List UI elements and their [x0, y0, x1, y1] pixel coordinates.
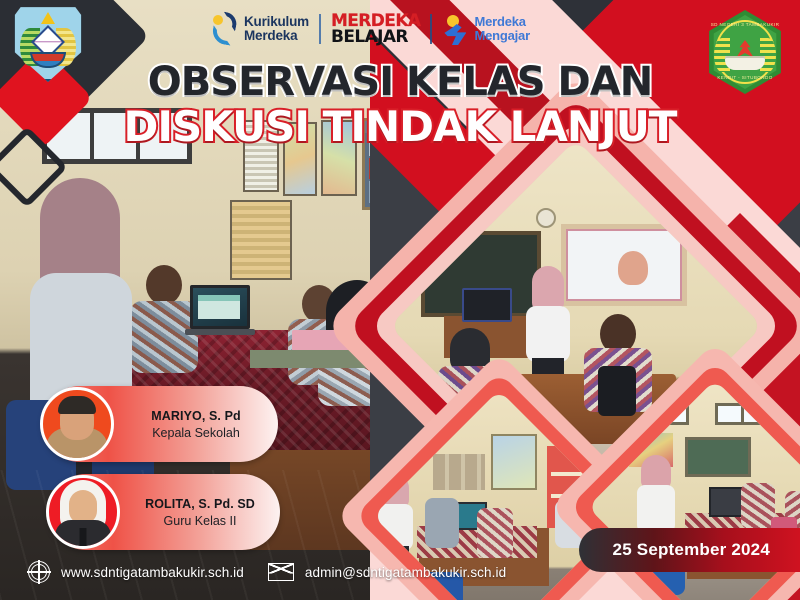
logo-line1: Merdeka [474, 15, 529, 29]
title-line-1: OBSERVASI KELAS DAN [0, 62, 800, 102]
laptop [462, 288, 512, 322]
footer-website[interactable]: www.sdntigatambakukir.sch.id [28, 561, 244, 583]
title-line-2: DISKUSI TINDAK LANJUT [0, 106, 800, 148]
envelope-icon [268, 563, 294, 581]
email-text: admin@sdntigatambakukir.sch.id [305, 565, 506, 580]
website-text: www.sdntigatambakukir.sch.id [61, 565, 244, 580]
name-badge-kepala-sekolah: MARIYO, S. Pd Kepala Sekolah [42, 386, 278, 462]
badge-name: MARIYO, S. Pd [122, 409, 270, 423]
badge-role: Guru Kelas II [128, 514, 272, 528]
student [425, 498, 459, 548]
backpack [598, 366, 636, 416]
avatar [46, 475, 120, 549]
footer-email[interactable]: admin@sdntigatambakukir.sch.id [268, 563, 506, 581]
date-text: 25 September 2024 [613, 540, 770, 560]
poster-canvas: AIR TRANSPORT [0, 0, 800, 600]
date-badge: 25 September 2024 [579, 528, 800, 572]
laptop [190, 285, 250, 337]
wall-map [491, 434, 537, 490]
wall-clock [536, 208, 556, 228]
logo-line2: BELAJAR [331, 29, 420, 46]
globe-icon [28, 561, 50, 583]
kurikulum-merdeka-icon [212, 13, 238, 45]
blackboard [685, 437, 751, 477]
badge-text: MARIYO, S. Pd Kepala Sekolah [114, 409, 278, 440]
avatar [40, 387, 114, 461]
name-badge-guru-kelas: ROLITA, S. Pd. SD Guru Kelas II [48, 474, 280, 550]
badge-name: ROLITA, S. Pd. SD [128, 497, 272, 511]
school-logo-top-text: SD NEGERI 3 TAMBAKUKIR [706, 22, 784, 27]
merdeka-belajar-logo: MERDEKA BELAJAR [331, 13, 420, 46]
kurikulum-merdeka-label: Kurikulum Merdeka [244, 15, 309, 43]
wall-pictures [433, 454, 485, 490]
projector-screen [561, 224, 687, 306]
logo-line2: Merdeka [244, 29, 309, 43]
header-logo-strip: Kurikulum Merdeka MERDEKA BELAJAR Merdek… [212, 6, 530, 52]
merdeka-mengajar-label: Merdeka Mengajar [474, 15, 529, 42]
logo-line1: Kurikulum [244, 15, 309, 29]
merdeka-mengajar-logo: Merdeka Mengajar [442, 13, 529, 45]
student [741, 483, 775, 529]
divider [319, 14, 321, 44]
kurikulum-merdeka-logo: Kurikulum Merdeka [212, 13, 309, 45]
merdeka-mengajar-icon [442, 13, 468, 45]
badge-text: ROLITA, S. Pd. SD Guru Kelas II [120, 497, 280, 528]
badge-role: Kepala Sekolah [122, 426, 270, 440]
wall-chart [230, 200, 292, 280]
logo-line2: Mengajar [474, 29, 529, 43]
page-title: OBSERVASI KELAS DAN DISKUSI TINDAK LANJU… [0, 62, 800, 148]
divider [430, 14, 432, 44]
